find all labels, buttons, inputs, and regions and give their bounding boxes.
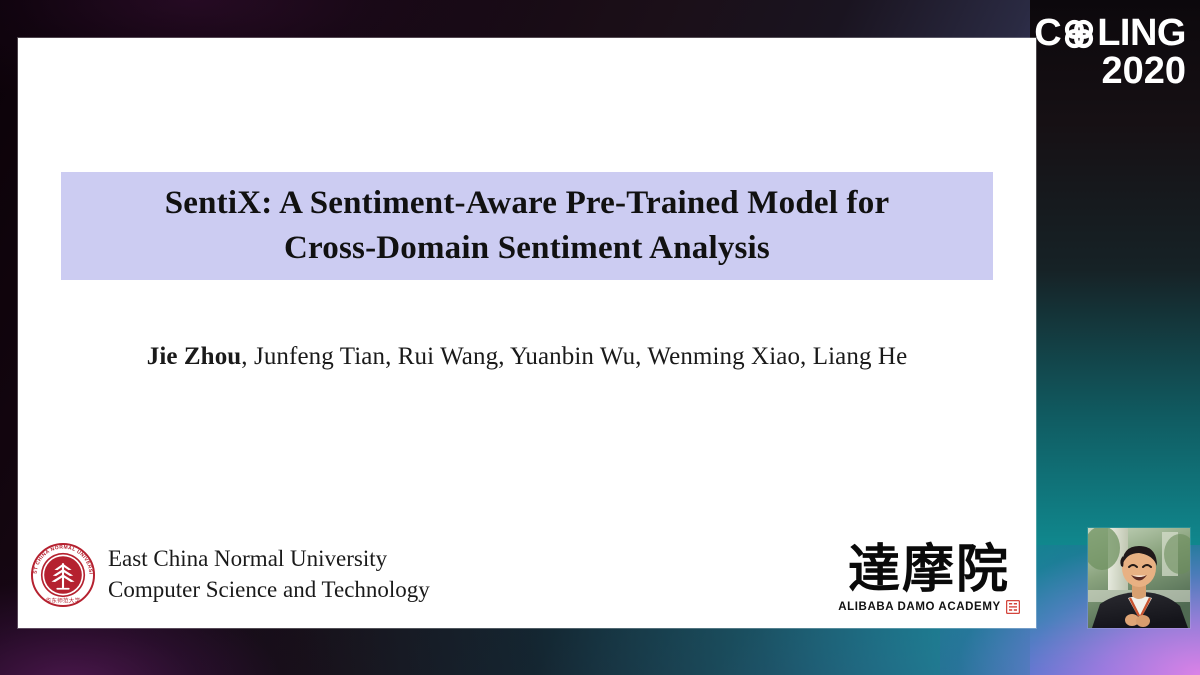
damo-seal-icon [1006, 600, 1020, 614]
slide-title: SentiX: A Sentiment-Aware Pre-Trained Mo… [155, 181, 900, 270]
coling-letters-ling: LING [1097, 16, 1186, 52]
presentation-screen: C LING 2020 SentiX: A Sentiment-Aware Pr… [0, 0, 1200, 675]
ecnu-affiliation-text: East China Normal University Computer Sc… [108, 544, 430, 605]
coling-letter-c: C [1034, 16, 1061, 52]
presenter-webcam[interactable] [1088, 528, 1190, 628]
slide-title-band: SentiX: A Sentiment-Aware Pre-Trained Mo… [61, 172, 993, 280]
ecnu-seal-icon: EAST CHINA NORMAL UNIVERSITY 华东师范大学 [30, 542, 96, 608]
slide-canvas: SentiX: A Sentiment-Aware Pre-Trained Mo… [18, 38, 1036, 628]
coling-logo: C LING 2020 [1034, 16, 1186, 89]
damo-chinese-wordmark: 達摩院 [834, 544, 1024, 596]
damo-affiliation: 達摩院 ALIBABA DAMO ACADEMY [834, 544, 1024, 614]
ecnu-affiliation: EAST CHINA NORMAL UNIVERSITY 华东师范大学 East… [30, 542, 430, 608]
author-list: Jie Zhou, Junfeng Tian, Rui Wang, Yuanbi… [61, 343, 993, 371]
slide-title-line-2: Cross-Domain Sentiment Analysis [284, 230, 770, 266]
damo-english-wordmark: ALIBABA DAMO ACADEMY [838, 601, 1001, 613]
coling-wordmark: C LING [1034, 16, 1186, 52]
ecnu-department-name: Computer Science and Technology [108, 577, 430, 602]
author-coauthors: , Junfeng Tian, Rui Wang, Yuanbin Wu, We… [241, 343, 907, 370]
author-presenting: Jie Zhou [147, 343, 242, 370]
interlocking-rings-icon [1062, 17, 1096, 51]
slide-title-line-1: SentiX: A Sentiment-Aware Pre-Trained Mo… [165, 185, 890, 221]
damo-english-row: ALIBABA DAMO ACADEMY [834, 600, 1024, 614]
coling-year: 2020 [1034, 54, 1186, 90]
ecnu-university-name: East China Normal University [108, 546, 387, 571]
